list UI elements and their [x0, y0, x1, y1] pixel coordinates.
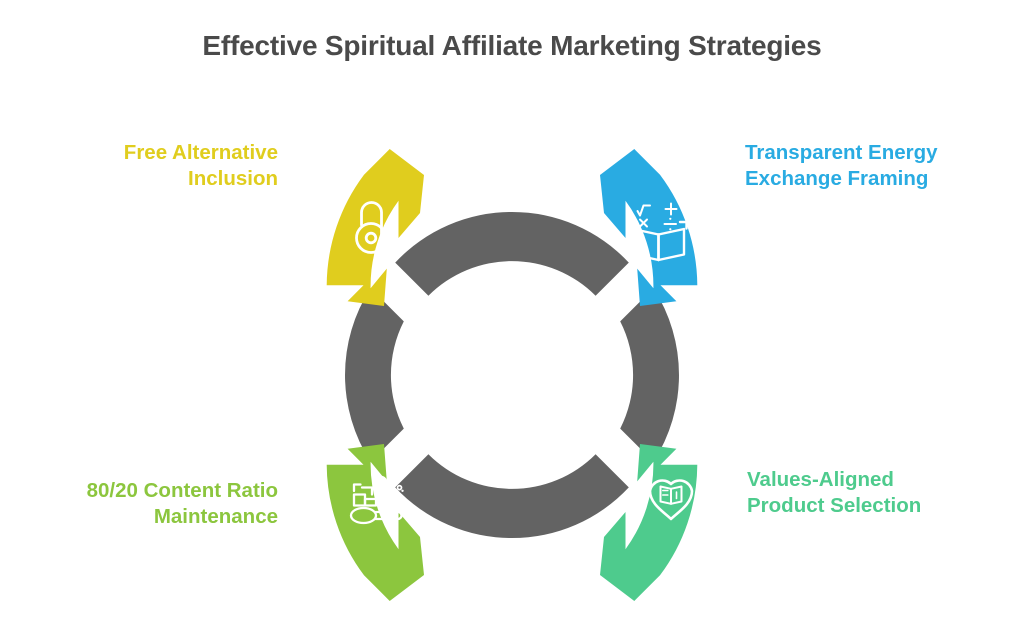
- segment-free-alternative[interactable]: [327, 149, 424, 306]
- label-values-aligned: Values-Aligned Product Selection: [747, 467, 1007, 519]
- segment-wedge-yellow[interactable]: [327, 149, 424, 306]
- gray-arc-right: [620, 288, 679, 462]
- infographic-canvas: Effective Spiritual Affiliate Marketing …: [0, 0, 1024, 622]
- gray-arc-bottom: [395, 454, 629, 538]
- segment-wedge-olive[interactable]: [327, 444, 424, 601]
- segment-content-ratio[interactable]: [327, 444, 424, 601]
- segment-wedge-blue[interactable]: [600, 149, 697, 306]
- label-transparent-energy: Transparent Energy Exchange Framing: [745, 140, 1005, 192]
- label-content-ratio: 80/20 Content Ratio Maintenance: [10, 478, 278, 530]
- segment-transparent-energy[interactable]: [600, 149, 697, 306]
- gray-arc-left: [345, 288, 404, 462]
- gray-arc-group: [345, 212, 679, 538]
- segment-wedge-mint[interactable]: [600, 444, 697, 601]
- segment-values-aligned[interactable]: [600, 444, 697, 601]
- label-free-alternative: Free Alternative Inclusion: [30, 140, 278, 192]
- gray-arc-top: [395, 212, 629, 296]
